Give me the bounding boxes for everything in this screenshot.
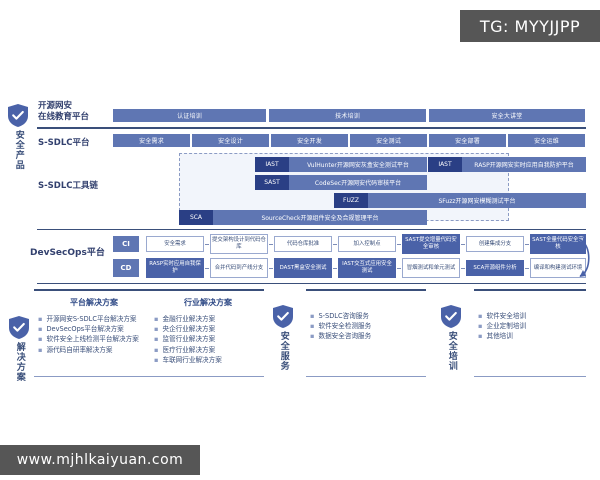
shield-check-icon-training xyxy=(441,305,461,328)
shield-check-icon xyxy=(8,104,28,127)
ssdlc-phase-0[interactable]: 安全需求 xyxy=(112,133,191,148)
divider-education xyxy=(37,127,586,129)
services-panel-top-rule xyxy=(306,289,426,291)
cd-step-3[interactable]: IAST交互式应用安全测试 xyxy=(338,258,396,278)
tool-name-sourcecheck: SourceCheck开源组件安全及合规管理平台 xyxy=(213,210,427,225)
ci-connector-1 xyxy=(269,244,273,245)
ci-step-4[interactable]: SAST提交增量代码安全审核 xyxy=(402,234,460,254)
list-item[interactable]: ▪DevSecOps平台解决方案 xyxy=(38,324,150,334)
ci-connector-3 xyxy=(397,244,401,245)
tool-name-vulhunter: VulHunter开源网安灰盒安全测试平台 xyxy=(289,157,427,172)
devsecops-ci-tag: CI xyxy=(113,236,139,252)
diagram-canvas: TG: MYYJJPP 安全产品 开源网安 在线教育平台 认证培训 技术培训 安… xyxy=(0,0,600,480)
cd-connector-5 xyxy=(525,268,529,269)
ssdlc-phase-5[interactable]: 安全运维 xyxy=(507,133,586,148)
solutions-panel-top-rule xyxy=(34,289,264,291)
list-item[interactable]: ▪医疗行业解决方案 xyxy=(154,345,262,355)
list-item[interactable]: ▪软件安全检测服务 xyxy=(310,321,371,331)
services-panel: ▪S-SDLC咨询服务 ▪软件安全检测服务 ▪数据安全咨询服务 xyxy=(306,289,426,377)
tool-name-rasp: RASP开源网安实时应用自我防护平台 xyxy=(462,157,586,172)
cd-step-4[interactable]: 冒烟测试和单元测试 xyxy=(402,258,460,278)
sidebar-security-products: 安全产品 xyxy=(2,104,34,170)
list-item[interactable]: ▪央企行业解决方案 xyxy=(154,324,262,334)
row-label-education-platform: 开源网安 在线教育平台 xyxy=(38,101,100,122)
telegram-watermark: TG: MYYJJPP xyxy=(460,10,600,42)
website-watermark: www.mjhlkaiyuan.com xyxy=(0,445,200,475)
ci-step-5[interactable]: 创建集成分支 xyxy=(466,236,524,252)
training-panel: ▪软件安全培训 ▪企业定制培训 ▪其他培训 xyxy=(474,289,586,377)
tool-tag-iast-2: IAST xyxy=(428,157,462,172)
edu-item-2[interactable]: 安全大讲堂 xyxy=(428,108,586,123)
cd-step-2[interactable]: DAST黑盒安全测试 xyxy=(274,258,332,278)
sidebar-solutions-label: 解决方案 xyxy=(14,342,23,382)
tool-iast-vulhunter[interactable]: IAST VulHunter开源网安灰盒安全测试平台 xyxy=(255,157,427,172)
ci-step-3[interactable]: 加入控制点 xyxy=(338,236,396,252)
sidebar-security-products-label: 安全产品 xyxy=(13,130,22,170)
tool-fuzz-sfuzz[interactable]: FUZZ SFuzz开源网安模糊测试平台 xyxy=(334,193,586,208)
list-item[interactable]: ▪源代码自研率解决方案 xyxy=(38,345,150,355)
list-item[interactable]: ▪车联网行业解决方案 xyxy=(154,355,262,365)
tool-name-sfuzz: SFuzz开源网安模糊测试平台 xyxy=(368,193,586,208)
edu-item-1[interactable]: 技术培训 xyxy=(268,108,427,123)
tool-tag-fuzz: FUZZ xyxy=(334,193,368,208)
edu-item-0[interactable]: 认证培训 xyxy=(112,108,267,123)
devsecops-cd-tag: CD xyxy=(113,259,139,277)
solutions-panel: 平台解决方案 ▪开源网安S-SDLC平台解决方案 ▪DevSecOps平台解决方… xyxy=(34,289,264,377)
shield-check-icon-solutions xyxy=(9,316,29,339)
cd-connector-2 xyxy=(333,268,337,269)
ci-connector-0 xyxy=(205,244,209,245)
cd-step-5[interactable]: SCA开源组件分析 xyxy=(466,260,524,276)
ci-step-0[interactable]: 安全需求 xyxy=(146,236,204,252)
ssdlc-phase-1[interactable]: 安全设计 xyxy=(191,133,270,148)
tool-sca-sourcecheck[interactable]: SCA SourceCheck开源组件安全及合规管理平台 xyxy=(179,210,427,225)
row-label-devsecops: DevSecOps平台 xyxy=(30,248,110,259)
list-item[interactable]: ▪S-SDLC咨询服务 xyxy=(310,311,371,321)
solutions-col-0-title: 平台解决方案 xyxy=(38,297,150,308)
cd-connector-0 xyxy=(205,268,209,269)
ssdlc-phase-3[interactable]: 安全测试 xyxy=(349,133,428,148)
row-label-ssdlc-toolchain: S-SDLC工具链 xyxy=(38,181,108,192)
training-panel-top-rule xyxy=(474,289,586,291)
sidebar-training-label: 安全培训 xyxy=(446,331,455,371)
cd-connector-1 xyxy=(269,268,273,269)
loop-arrow-icon xyxy=(574,236,596,280)
sidebar-services: 安全服务 xyxy=(266,305,300,371)
services-panel-bottom-rule xyxy=(306,376,426,377)
ci-connector-2 xyxy=(333,244,337,245)
list-item[interactable]: ▪开源网安S-SDLC平台解决方案 xyxy=(38,314,150,324)
cd-connector-4 xyxy=(461,268,465,269)
list-item[interactable]: ▪监管行业解决方案 xyxy=(154,334,262,344)
ci-step-1[interactable]: 提交架构设计到代码仓库 xyxy=(210,234,268,254)
tool-iast-rasp[interactable]: IAST RASP开源网安实时应用自我防护平台 xyxy=(428,157,586,172)
sidebar-solutions: 解决方案 xyxy=(2,316,36,382)
list-item[interactable]: ▪数据安全咨询服务 xyxy=(310,331,371,341)
solutions-panel-bottom-rule xyxy=(34,376,264,377)
ci-step-2[interactable]: 代码仓库批准 xyxy=(274,236,332,252)
list-item[interactable]: ▪其他培训 xyxy=(478,331,526,341)
tool-sast-codesec[interactable]: SAST CodeSec开源网安代码审核平台 xyxy=(255,175,427,190)
tool-tag-sast: SAST xyxy=(255,175,289,190)
shield-check-icon-services xyxy=(273,305,293,328)
sidebar-services-label: 安全服务 xyxy=(278,331,287,371)
solutions-col-1-title: 行业解决方案 xyxy=(154,297,262,308)
ci-connector-5 xyxy=(525,244,529,245)
list-item[interactable]: ▪软件安全上线检测平台解决方案 xyxy=(38,334,150,344)
list-item[interactable]: ▪软件安全培训 xyxy=(478,311,526,321)
divider-devsecops xyxy=(37,283,586,284)
training-panel-bottom-rule xyxy=(474,376,586,377)
list-item[interactable]: ▪金融行业解决方案 xyxy=(154,314,262,324)
cd-step-0[interactable]: RASP实时应用自我保护 xyxy=(146,258,204,278)
ssdlc-phase-4[interactable]: 安全部署 xyxy=(428,133,507,148)
cd-connector-3 xyxy=(397,268,401,269)
tool-tag-sca: SCA xyxy=(179,210,213,225)
ssdlc-phase-2[interactable]: 安全开发 xyxy=(270,133,349,148)
cd-step-1[interactable]: 合并代码到产线分支 xyxy=(210,258,268,278)
ci-connector-4 xyxy=(461,244,465,245)
tool-tag-iast: IAST xyxy=(255,157,289,172)
sidebar-training: 安全培训 xyxy=(434,305,468,371)
tool-name-codesec: CodeSec开源网安代码审核平台 xyxy=(289,175,427,190)
divider-toolchain xyxy=(37,229,586,230)
row-label-ssdlc-platform: S-SDLC平台 xyxy=(38,138,104,149)
list-item[interactable]: ▪企业定制培训 xyxy=(478,321,526,331)
